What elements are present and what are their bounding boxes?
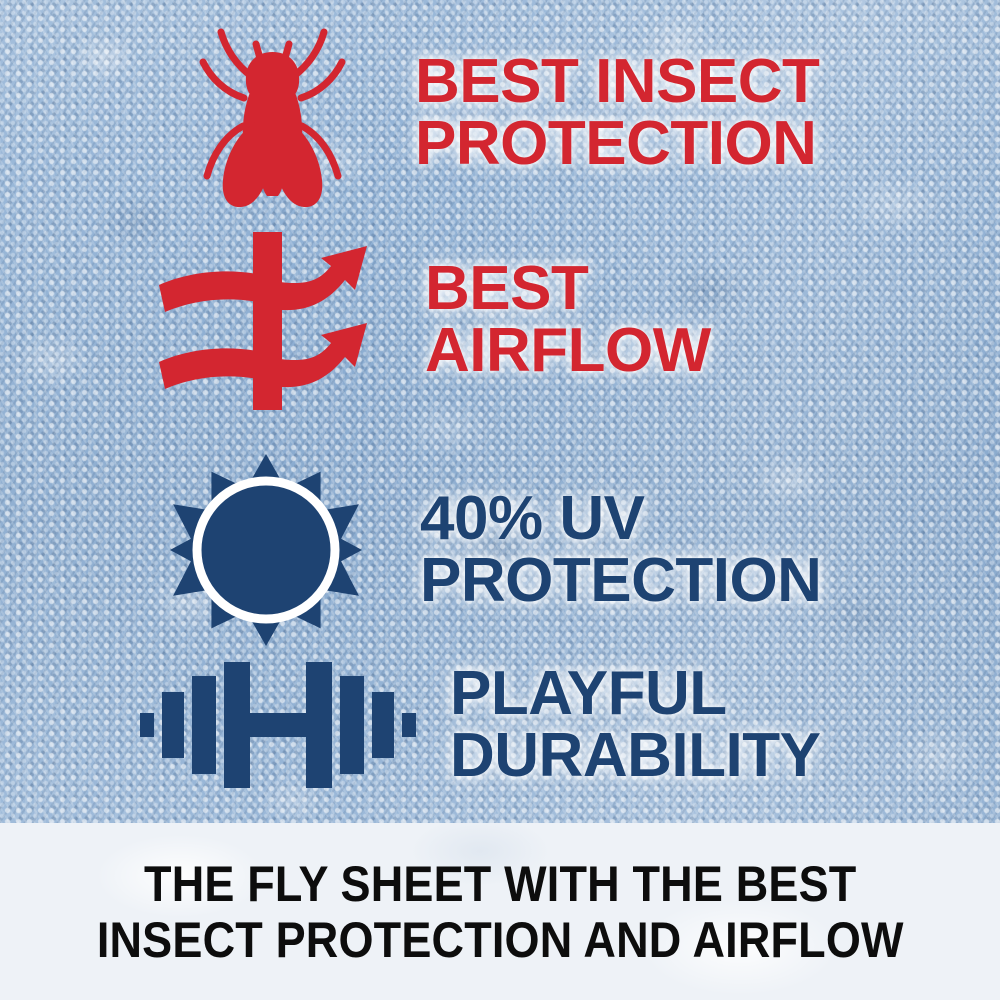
feature-label-insect-protection: BEST INSECT PROTECTION bbox=[415, 51, 819, 175]
feature-row-airflow: BEST AIRFLOW bbox=[155, 222, 995, 417]
feature-text-airflow: BEST AIRFLOW bbox=[425, 258, 711, 382]
feature-label-durability: PLAYFUL DURABILITY bbox=[450, 663, 820, 787]
fly-icon bbox=[175, 18, 370, 208]
feature-text-uv-protection: 40% UV PROTECTION bbox=[420, 488, 821, 612]
airflow-arrows-icon bbox=[155, 222, 370, 417]
feature-row-uv-protection: 40% UV PROTECTION bbox=[168, 452, 998, 648]
feature-row-durability: PLAYFUL DURABILITY bbox=[132, 650, 992, 800]
feature-row-insect-protection: BEST INSECT PROTECTION bbox=[175, 18, 995, 208]
feature-text-durability: PLAYFUL DURABILITY bbox=[450, 663, 820, 787]
feature-label-airflow: BEST AIRFLOW bbox=[425, 258, 711, 382]
feature-label-uv-protection: 40% UV PROTECTION bbox=[420, 488, 821, 612]
product-feature-infographic: BEST INSECT PROTECTION BEST AIRFLOW bbox=[0, 0, 1000, 1000]
sun-icon bbox=[168, 452, 364, 648]
dumbbell-icon bbox=[132, 650, 424, 800]
feature-text-insect-protection: BEST INSECT PROTECTION bbox=[415, 51, 819, 175]
caption-bar: THE FLY SHEET WITH THE BEST INSECT PROTE… bbox=[0, 823, 1000, 1000]
caption-text: THE FLY SHEET WITH THE BEST INSECT PROTE… bbox=[97, 856, 904, 968]
